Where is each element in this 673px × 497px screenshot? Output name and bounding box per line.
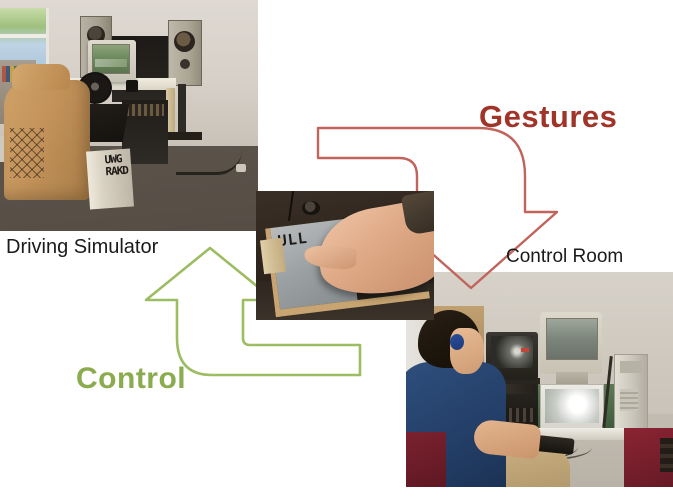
driving-simulator-caption: Driving Simulator xyxy=(6,236,158,259)
hand-top-knob xyxy=(302,201,320,215)
gestures-label: Gestures xyxy=(479,99,617,135)
hand-cardboard-tab xyxy=(260,238,286,274)
control-label: Control xyxy=(76,362,186,396)
hand-gesture-inset-photo: ULL xyxy=(256,191,434,320)
diagram-canvas: UWG RAKD xyxy=(0,0,673,497)
control-room-caption: Control Room xyxy=(506,246,623,268)
hand-cable xyxy=(288,191,294,221)
